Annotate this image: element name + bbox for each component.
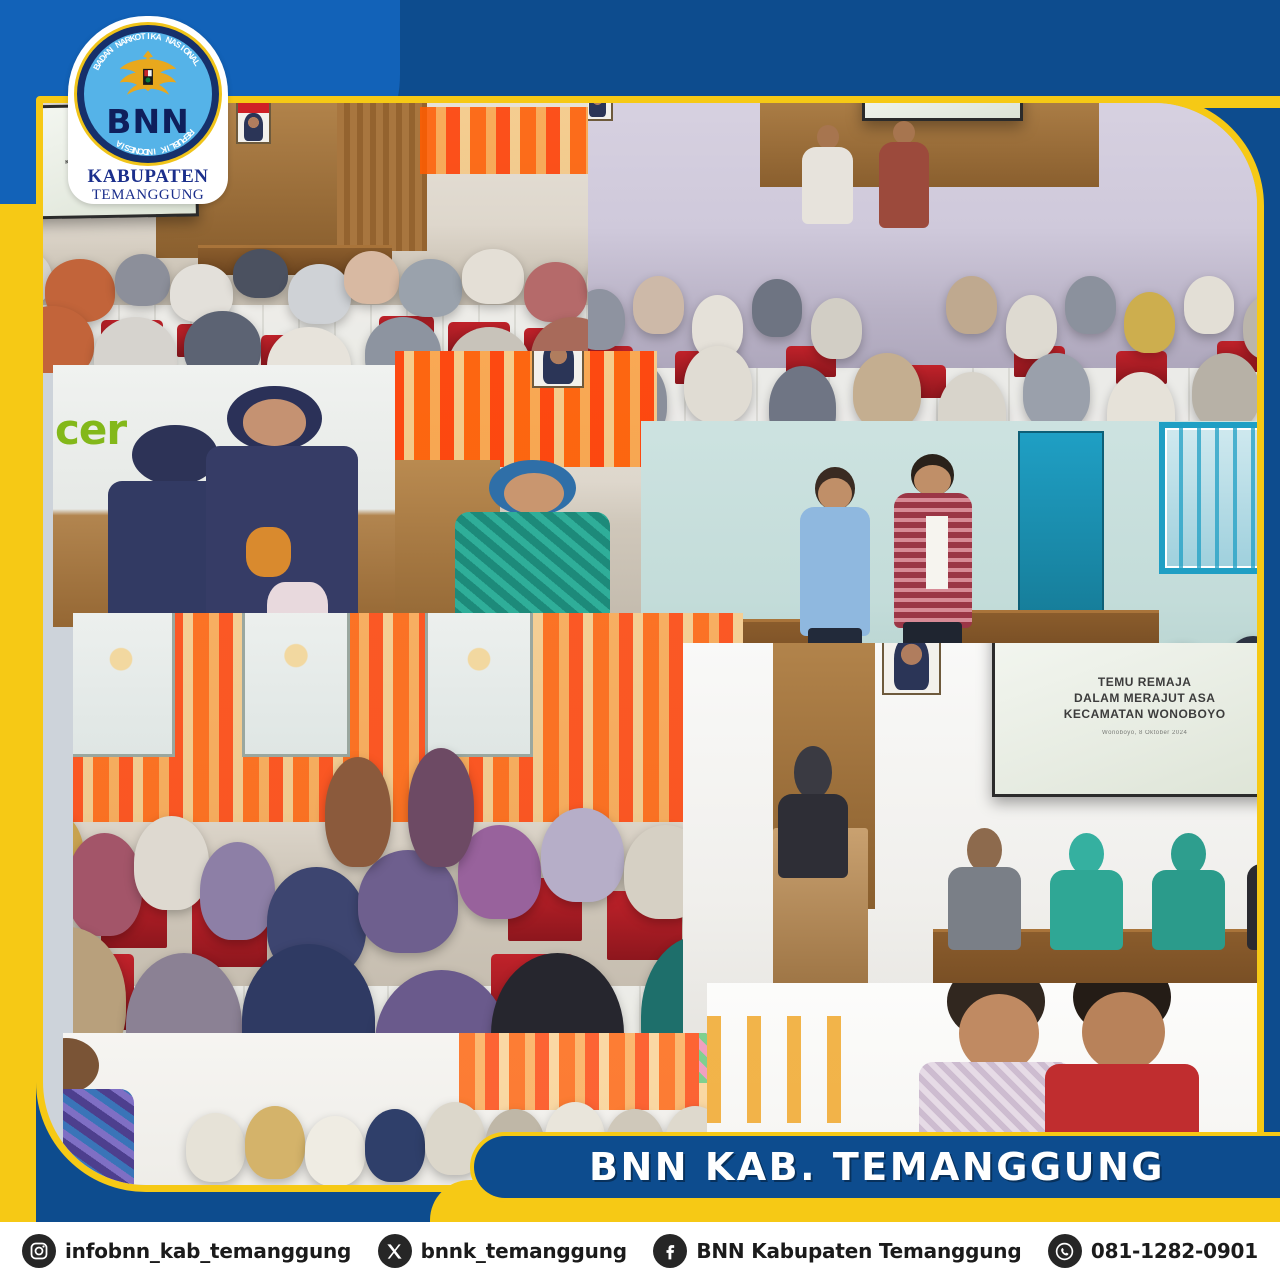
logo-acronym: BNN [84, 102, 212, 141]
footer-label-whatsapp: 081-1282-0901 [1091, 1239, 1258, 1263]
footer-item-facebook[interactable]: BNN Kabupaten Temanggung [653, 1234, 1021, 1268]
figure-mc [773, 746, 853, 878]
footer-label-facebook: BNN Kabupaten Temanggung [696, 1239, 1021, 1263]
footer-label-instagram: infobnn_kab_temanggung [65, 1239, 351, 1263]
footer-item-instagram[interactable]: infobnn_kab_temanggung [22, 1234, 351, 1268]
logo-line-kabupaten: KABUPATEN [88, 167, 209, 186]
photo-tile-praying-audience [588, 103, 1257, 435]
whatsapp-icon [1048, 1234, 1082, 1268]
president-portrait [882, 643, 940, 695]
footer-label-x-twitter: bnnk_temanggung [421, 1239, 627, 1263]
x-twitter-icon [378, 1234, 412, 1268]
bnn-logo-badge: BADAN NARKOTIKA NASIONAL REPUBLIK INDONE… [68, 16, 228, 204]
projector-screen-2 [862, 103, 1023, 121]
slide-date: Wonoboyo, 8 Oktober 2024 [1102, 729, 1187, 737]
garuda-icon [117, 48, 179, 96]
facebook-icon [653, 1234, 687, 1268]
photo-collage: TEMU REMAJA DALAM MERAJUT ASA KECAMATAN … [36, 96, 1264, 1192]
logo-line-temanggung: TEMANGGUNG [92, 186, 205, 204]
instagram-icon [22, 1234, 56, 1268]
banner-title: BNN KAB. TEMANGGUNG [589, 1145, 1165, 1189]
footer-item-whatsapp[interactable]: 081-1282-0901 [1048, 1234, 1258, 1268]
bottom-banner: BNN KAB. TEMANGGUNG [470, 1132, 1280, 1202]
projector-screen-3: TEMU REMAJA DALAM MERAJUT ASA KECAMATAN … [992, 643, 1257, 797]
footer-item-x-twitter[interactable]: bnnk_temanggung [378, 1234, 627, 1268]
slide-line-1: TEMU REMAJA [1098, 674, 1192, 690]
photo-tile-massage-session [73, 613, 743, 1053]
slide-line-2: DALAM MERAJUT ASA [1074, 690, 1215, 706]
header-strip [380, 0, 1280, 98]
bnn-logo-circle: BADAN NARKOTIKA NASIONAL REPUBLIK INDONE… [77, 25, 219, 163]
slide-line-3: KECAMATAN WONOBOYO [1064, 706, 1226, 722]
poster-root: TEMU REMAJA DALAM MERAJUT ASA KECAMATAN … [0, 0, 1280, 1280]
photo-tile-hug-acer: acer [53, 365, 413, 627]
photo-tile-green-speaker [395, 351, 657, 641]
footer-contact-bar: infobnn_kab_temanggung bnnk_temanggung B… [0, 1222, 1280, 1280]
frame-accent-left [0, 96, 36, 1222]
